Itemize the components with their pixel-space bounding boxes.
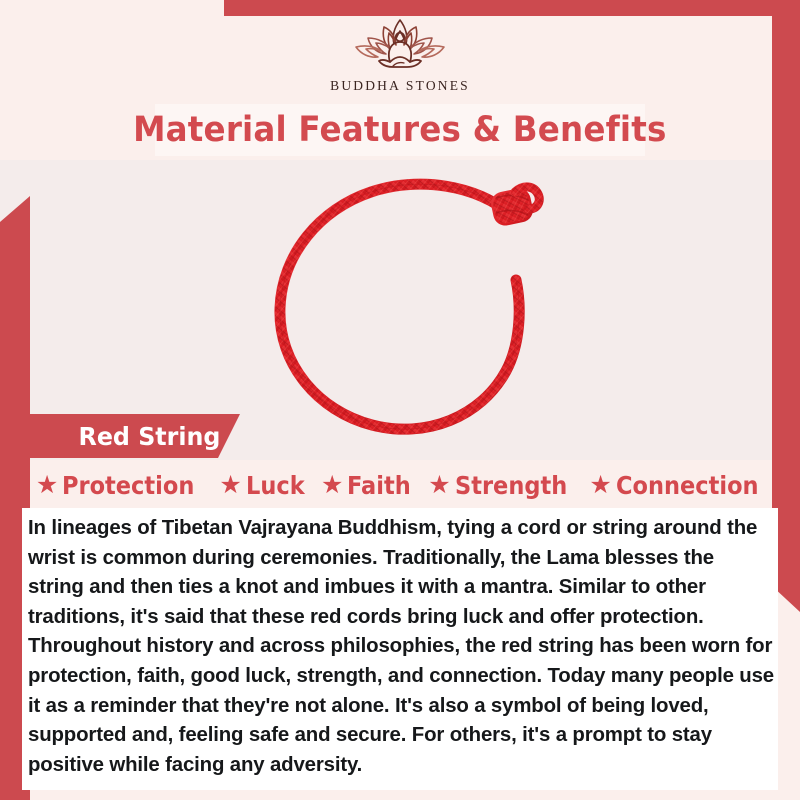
- sliding-knot: [489, 186, 539, 228]
- title-banner: Material Features & Benefits: [155, 104, 645, 156]
- red-braided-cord-bracelet-icon: [268, 168, 560, 460]
- star-icon: ★: [321, 473, 343, 498]
- benefit-item: ★ Luck: [219, 471, 311, 500]
- benefit-item: ★ Protection: [36, 471, 209, 500]
- star-icon: ★: [428, 473, 450, 498]
- brand-logo: BUDDHA STONES: [0, 14, 800, 104]
- benefit-item: ★ Faith: [321, 471, 418, 500]
- benefit-label: Connection: [616, 471, 759, 500]
- star-icon: ★: [36, 473, 58, 498]
- page-title: Material Features & Benefits: [133, 110, 667, 150]
- description-text: In lineages of Tibetan Vajrayana Buddhis…: [22, 508, 778, 780]
- benefit-label: Luck: [246, 471, 305, 500]
- infographic-poster: BUDDHA STONES Material Features & Benefi…: [0, 0, 800, 800]
- star-icon: ★: [589, 473, 611, 498]
- brand-name: BUDDHA STONES: [330, 78, 470, 94]
- lotus-meditation-icon: [348, 14, 452, 76]
- benefits-row: ★ Protection ★ Luck ★ Faith ★ Strength ★…: [40, 466, 770, 504]
- benefit-item: ★ Strength: [428, 471, 579, 500]
- product-image: [268, 168, 560, 460]
- benefit-label: Faith: [347, 471, 411, 500]
- star-icon: ★: [219, 473, 241, 498]
- benefit-label: Protection: [62, 471, 194, 500]
- description-panel: In lineages of Tibetan Vajrayana Buddhis…: [22, 508, 778, 790]
- material-name: Red String: [33, 422, 220, 451]
- material-ribbon: Red String: [28, 414, 240, 458]
- benefit-item: ★ Connection: [589, 471, 774, 500]
- benefit-label: Strength: [455, 471, 567, 500]
